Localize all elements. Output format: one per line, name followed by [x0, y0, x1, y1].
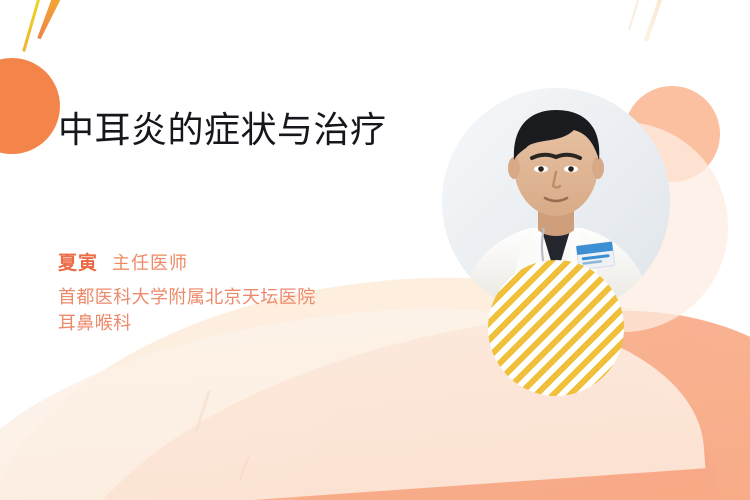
- faint-diagonal-stroke-center: [194, 390, 210, 433]
- portrait-composition: [436, 82, 726, 372]
- doctor-rank: 主任医师: [112, 249, 188, 275]
- yellow-diagonal-stroke-icon: [22, 0, 45, 52]
- faint-diagonal-stroke-right-b: [628, 0, 644, 30]
- doctor-name-row: 夏寅 主任医师: [58, 248, 438, 275]
- orange-circle-decoration: [0, 58, 60, 154]
- title-block: 中耳炎的症状与治疗: [58, 108, 418, 153]
- faint-diagonal-stroke-right-a: [644, 0, 666, 42]
- doctor-name: 夏寅: [58, 248, 98, 275]
- doctor-credentials: 夏寅 主任医师 首都医科大学附属北京天坛医院 耳鼻喉科: [58, 248, 438, 336]
- doctor-intro-poster: 中耳炎的症状与治疗 夏寅 主任医师 首都医科大学附属北京天坛医院 耳鼻喉科: [0, 0, 750, 500]
- striped-circle-decoration: [488, 260, 624, 396]
- gold-diagonal-stroke-icon: [34, 0, 70, 41]
- page-title: 中耳炎的症状与治疗: [58, 108, 418, 153]
- doctor-department: 耳鼻喉科: [58, 310, 438, 336]
- doctor-affiliation: 首都医科大学附属北京天坛医院 耳鼻喉科: [58, 284, 438, 336]
- faint-diagonal-stroke-bottom: [238, 455, 249, 482]
- doctor-hospital: 首都医科大学附属北京天坛医院: [58, 284, 438, 310]
